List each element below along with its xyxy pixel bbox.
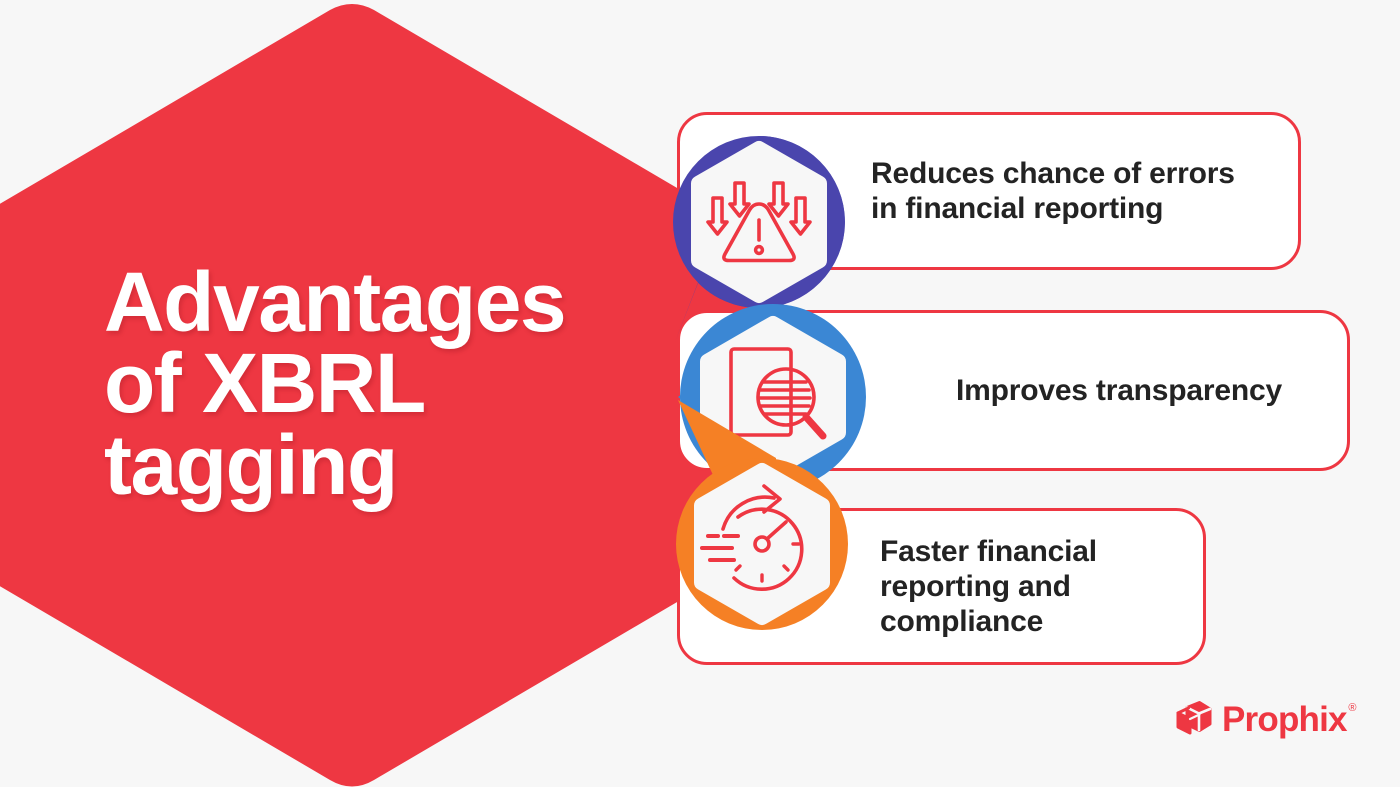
logo-name: Prophix [1222, 700, 1347, 739]
title-line-2: of XBRL [104, 343, 664, 424]
advantage-card-label: Faster financial reporting and complianc… [880, 534, 1097, 639]
prophix-cube-icon [1175, 700, 1213, 738]
advantage-card-label: Improves transparency [956, 373, 1282, 408]
page-title: Advantages of XBRL tagging [104, 262, 664, 506]
prophix-wordmark: Prophix® [1222, 702, 1347, 737]
registered-trademark-symbol: ® [1348, 703, 1355, 714]
infographic-canvas: Advantages of XBRL tagging Reduces chanc… [0, 0, 1400, 787]
title-line-1: Advantages [104, 262, 664, 343]
prophix-logo[interactable]: Prophix® [1175, 700, 1347, 738]
hexagon-badge [702, 471, 822, 617]
advantage-card-label: Reduces chance of errors in financial re… [871, 156, 1235, 226]
advantage-marker-faster-reporting [676, 398, 848, 630]
title-line-3: tagging [104, 425, 664, 506]
